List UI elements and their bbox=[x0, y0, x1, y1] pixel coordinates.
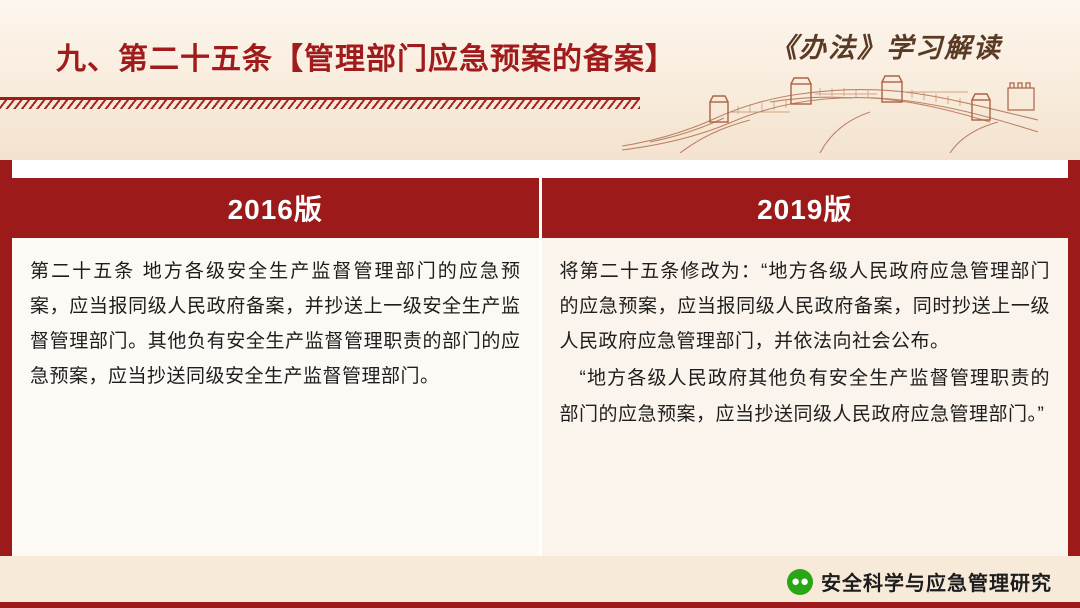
column-header-2019: 2019版 bbox=[542, 178, 1069, 238]
title-underline bbox=[0, 92, 640, 110]
column-body-2016: 第二十五条 地方各级安全生产监督管理部门的应急预案，应当报同级人民政府备案，并抄… bbox=[12, 238, 539, 558]
footer-brand: ●● 安全科学与应急管理研究 bbox=[787, 567, 1052, 596]
slide-header: 九、第二十五条【管理部门应急预案的备案】 《办法》学习解读 bbox=[0, 0, 1080, 160]
slide-footer: ●● 安全科学与应急管理研究 bbox=[0, 556, 1080, 608]
column-header-2016: 2016版 bbox=[12, 178, 539, 238]
paragraph: 第二十五条 地方各级安全生产监督管理部门的应急预案，应当报同级人民政府备案，并抄… bbox=[30, 254, 521, 395]
paragraph: “地方各级人民政府其他负有安全生产监督管理职责的部门的应急预案，应当抄送同级人民… bbox=[560, 361, 1051, 431]
footer-accent-bar bbox=[0, 602, 1080, 608]
comparison-table: 2016版 第二十五条 地方各级安全生产监督管理部门的应急预案，应当报同级人民政… bbox=[12, 178, 1068, 558]
table-column-2019: 2019版 将第二十五条修改为：“地方各级人民政府应急管理部门的应急预案，应当报… bbox=[542, 178, 1069, 558]
page-title: 九、第二十五条【管理部门应急预案的备案】 bbox=[56, 34, 676, 78]
great-wall-illustration-icon bbox=[620, 58, 1040, 153]
table-column-2016: 2016版 第二十五条 地方各级安全生产监督管理部门的应急预案，应当报同级人民政… bbox=[12, 178, 542, 558]
paragraph: 将第二十五条修改为：“地方各级人民政府应急管理部门的应急预案，应当报同级人民政府… bbox=[560, 254, 1051, 359]
footer-brand-text: 安全科学与应急管理研究 bbox=[821, 567, 1052, 596]
slide: 九、第二十五条【管理部门应急预案的备案】 《办法》学习解读 bbox=[0, 0, 1080, 608]
right-accent-bar bbox=[1068, 160, 1080, 608]
column-body-2019: 将第二十五条修改为：“地方各级人民政府应急管理部门的应急预案，应当报同级人民政府… bbox=[542, 238, 1069, 558]
wechat-icon: ●● bbox=[787, 569, 813, 595]
left-accent-bar bbox=[0, 160, 12, 608]
title-underline-hatch bbox=[0, 100, 640, 109]
slide-body: 2016版 第二十五条 地方各级安全生产监督管理部门的应急预案，应当报同级人民政… bbox=[0, 160, 1080, 608]
